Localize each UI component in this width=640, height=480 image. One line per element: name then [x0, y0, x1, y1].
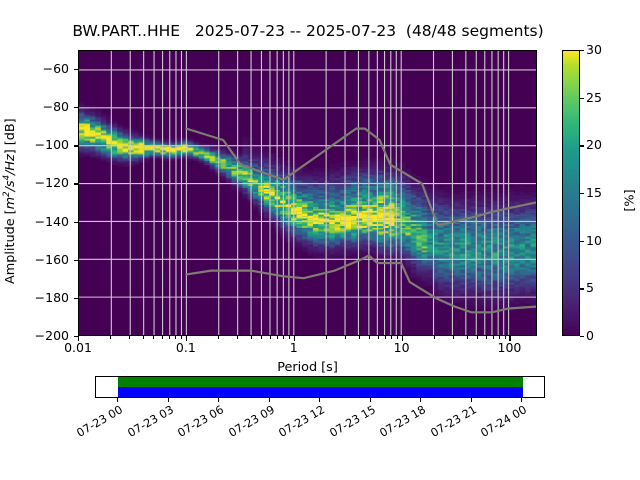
colorbar-tick-mark [580, 336, 584, 337]
x-tick-label: 0.1 [146, 341, 226, 354]
x-tick-mark-minor [270, 336, 271, 339]
x-tick-mark-minor [477, 336, 478, 339]
ylabel-exp-4: 4 [2, 175, 12, 180]
x-tick-mark-minor [493, 336, 494, 339]
x-tick-mark-minor [289, 336, 290, 339]
x-tick-mark-minor [345, 336, 346, 339]
psd-segments-bar [118, 387, 523, 397]
ylabel-prefix: Amplitude [ [3, 209, 18, 284]
x-tick-mark-minor [486, 336, 487, 339]
timeline-tick-mark [218, 398, 219, 402]
colorbar-tick-label: 20 [586, 139, 602, 152]
timeline-tick-mark [117, 398, 118, 402]
colorbar-tick-mark [580, 50, 584, 51]
x-tick-mark-minor [181, 336, 182, 339]
x-tick-mark-major [509, 336, 510, 341]
ylabel-suffix: ] [dB] [3, 118, 18, 154]
timeline-tick-mark [319, 398, 320, 402]
colorbar-tick-label: 15 [586, 187, 602, 200]
y-tick-label: −60 [0, 63, 69, 76]
ylabel-unit-hz: /Hz [3, 154, 18, 175]
x-tick-label: 0.01 [38, 341, 118, 354]
page-title: BW.PART..HHE 2025-07-23 -- 2025-07-23 (4… [0, 22, 616, 40]
x-tick-label: 1 [254, 341, 334, 354]
y-tick-mark [74, 298, 78, 299]
ppsd-plot-area[interactable] [78, 50, 537, 336]
colorbar-tick-mark [580, 98, 584, 99]
x-tick-mark-minor [175, 336, 176, 339]
x-tick-mark-minor [162, 336, 163, 339]
timeline-tick-mark [370, 398, 371, 402]
x-tick-label: 10 [362, 341, 442, 354]
timeline-tick-mark [168, 398, 169, 402]
x-tick-mark-major [78, 336, 79, 341]
y-tick-mark [74, 107, 78, 108]
colorbar-tick-label: 0 [586, 330, 594, 343]
timeline-tick-mark [521, 398, 522, 402]
colorbar-tick-label: 10 [586, 235, 602, 248]
x-tick-mark-minor [129, 336, 130, 339]
timeline-tick-label: 07-23 18 [374, 404, 428, 442]
timeline-tick-label: 07-23 00 [71, 404, 125, 442]
x-tick-mark-minor [237, 336, 238, 339]
x-tick-mark-minor [378, 336, 379, 339]
y-axis-label: Amplitude [m2/s4/Hz] [dB] [2, 101, 18, 301]
data-coverage-bar [118, 377, 523, 387]
timeline-tick-label: 07-23 09 [222, 404, 276, 442]
timeline-coverage-axes[interactable] [95, 376, 545, 398]
x-axis-label: Period [s] [78, 360, 537, 375]
x-tick-mark-minor [110, 336, 111, 339]
x-tick-mark-minor [283, 336, 284, 339]
colorbar-tick-mark [580, 288, 584, 289]
y-tick-mark [74, 260, 78, 261]
y-tick-mark [74, 222, 78, 223]
colorbar-label: [%] [623, 141, 638, 261]
timeline-tick-mark [420, 398, 421, 402]
y-tick-mark [74, 69, 78, 70]
timeline-tick-mark [269, 398, 270, 402]
ppsd-figure: BW.PART..HHE 2025-07-23 -- 2025-07-23 (4… [0, 0, 640, 480]
colorbar-tick-label: 5 [586, 282, 594, 295]
x-tick-mark-minor [251, 336, 252, 339]
y-tick-mark [74, 183, 78, 184]
colorbar-tick-label: 25 [586, 92, 602, 105]
x-tick-mark-minor [391, 336, 392, 339]
colorbar-tick-mark [580, 193, 584, 194]
timeline-tick-label: 07-23 06 [172, 404, 226, 442]
noise-model-curves [79, 51, 536, 335]
timeline-tick-label: 07-23 15 [323, 404, 377, 442]
x-tick-mark-minor [397, 336, 398, 339]
timeline-tick-label: 07-23 21 [424, 404, 478, 442]
x-tick-mark-minor [326, 336, 327, 339]
x-tick-mark-major [402, 336, 403, 341]
x-tick-mark-minor [434, 336, 435, 339]
x-tick-mark-minor [385, 336, 386, 339]
ylabel-unit-m: m [3, 197, 18, 209]
x-tick-mark-minor [359, 336, 360, 339]
x-tick-mark-minor [369, 336, 370, 339]
timeline-tick-label: 07-24 00 [475, 404, 529, 442]
x-tick-mark-minor [467, 336, 468, 339]
x-tick-mark-minor [218, 336, 219, 339]
x-tick-mark-major [294, 336, 295, 341]
x-tick-mark-minor [153, 336, 154, 339]
y-tick-mark [74, 145, 78, 146]
x-tick-label: 100 [469, 341, 549, 354]
colorbar-tick-mark [580, 241, 584, 242]
x-tick-mark-minor [453, 336, 454, 339]
x-tick-mark-minor [505, 336, 506, 339]
x-tick-mark-minor [499, 336, 500, 339]
colorbar[interactable] [562, 50, 580, 336]
timeline-tick-label: 07-23 03 [121, 404, 175, 442]
x-tick-mark-minor [169, 336, 170, 339]
colorbar-tick-label: 30 [586, 44, 602, 57]
x-tick-mark-minor [277, 336, 278, 339]
colorbar-tick-mark [580, 145, 584, 146]
x-tick-mark-minor [261, 336, 262, 339]
x-tick-mark-minor [143, 336, 144, 339]
timeline-tick-label: 07-23 12 [273, 404, 327, 442]
ylabel-exp-2: 2 [2, 191, 12, 196]
ylabel-unit-s: /s [3, 180, 18, 191]
timeline-tick-mark [471, 398, 472, 402]
x-tick-mark-major [186, 336, 187, 341]
